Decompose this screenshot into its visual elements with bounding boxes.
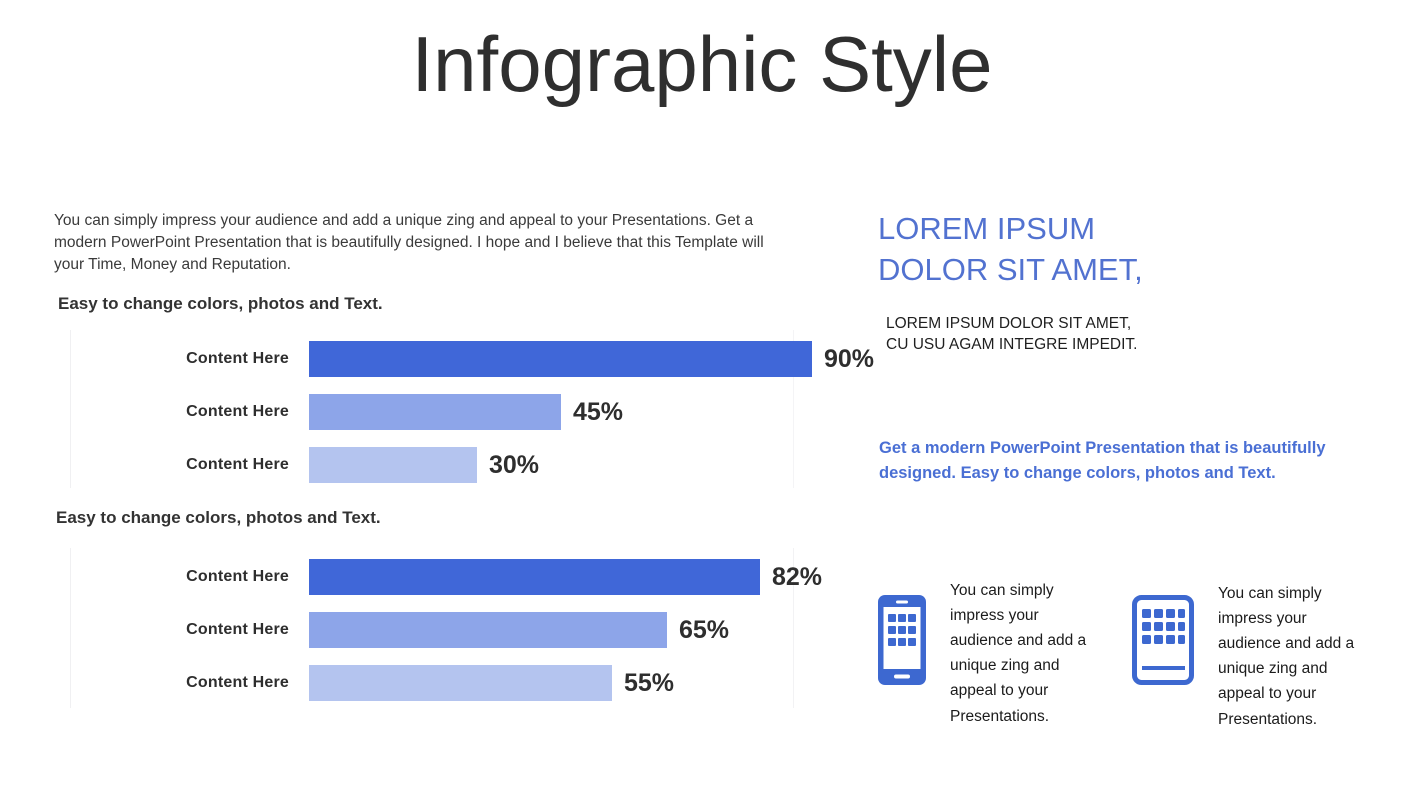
bar-fill xyxy=(309,394,561,430)
bar-row: Content Here 55% xyxy=(54,665,794,701)
bar-track xyxy=(309,665,612,701)
bar-chart-2: Content Here 82% Content Here 65% Conten… xyxy=(54,548,794,708)
right-subtitle-line-1: LOREM IPSUM DOLOR SIT AMET, xyxy=(886,314,1137,335)
bar-label: Content Here xyxy=(54,341,289,377)
bar-row: Content Here 30% xyxy=(54,447,794,483)
bar-chart-1: Content Here 90% Content Here 45% Conten… xyxy=(54,330,794,488)
intro-paragraph: You can simply impress your audience and… xyxy=(54,210,772,276)
right-content-column: LOREM IPSUM DOLOR SIT AMET, LOREM IPSUM … xyxy=(878,208,1358,290)
bar-value: 55% xyxy=(624,665,674,701)
bar-track xyxy=(309,447,477,483)
feature-text: You can simply impress your audience and… xyxy=(950,578,1102,729)
bar-label: Content Here xyxy=(54,394,289,430)
page-title: Infographic Style xyxy=(0,22,1404,106)
bar-label: Content Here xyxy=(54,447,289,483)
bar-track xyxy=(309,612,667,648)
right-title-line-2: DOLOR SIT AMET, xyxy=(878,249,1358,290)
right-highlight-text: Get a modern PowerPoint Presentation tha… xyxy=(879,436,1349,487)
bar-track xyxy=(309,394,561,430)
feature-tablet: You can simply impress your audience and… xyxy=(1132,573,1368,703)
bar-value: 65% xyxy=(679,612,729,648)
bar-fill xyxy=(309,559,760,595)
bar-label: Content Here xyxy=(54,612,289,648)
bar-fill xyxy=(309,341,812,377)
bar-fill xyxy=(309,447,477,483)
bar-value: 82% xyxy=(772,559,822,595)
bar-value: 30% xyxy=(489,447,539,483)
bar-row: Content Here 65% xyxy=(54,612,794,648)
bar-row: Content Here 90% xyxy=(54,341,794,377)
bar-label: Content Here xyxy=(54,665,289,701)
right-subtitle-line-2: CU USU AGAM INTEGRE IMPEDIT. xyxy=(886,335,1137,356)
bar-label: Content Here xyxy=(54,559,289,595)
left-content-column: You can simply impress your audience and… xyxy=(54,210,794,276)
tablet-icon xyxy=(1132,595,1194,690)
bar-value: 45% xyxy=(573,394,623,430)
bar-row: Content Here 82% xyxy=(54,559,794,595)
bar-row: Content Here 45% xyxy=(54,394,794,430)
bar-fill xyxy=(309,665,612,701)
bar-fill xyxy=(309,612,667,648)
bar-track xyxy=(309,341,812,377)
feature-smartphone: You can simply impress your audience and… xyxy=(878,573,1114,703)
right-subtitle: LOREM IPSUM DOLOR SIT AMET, CU USU AGAM … xyxy=(886,314,1137,356)
chart-1-heading: Easy to change colors, photos and Text. xyxy=(58,294,383,314)
bar-track xyxy=(309,559,760,595)
bar-value: 90% xyxy=(824,341,874,377)
right-title-line-1: LOREM IPSUM xyxy=(878,208,1358,249)
chart-2-heading: Easy to change colors, photos and Text. xyxy=(56,508,381,528)
smartphone-icon xyxy=(878,595,926,690)
feature-text: You can simply impress your audience and… xyxy=(1218,581,1370,732)
